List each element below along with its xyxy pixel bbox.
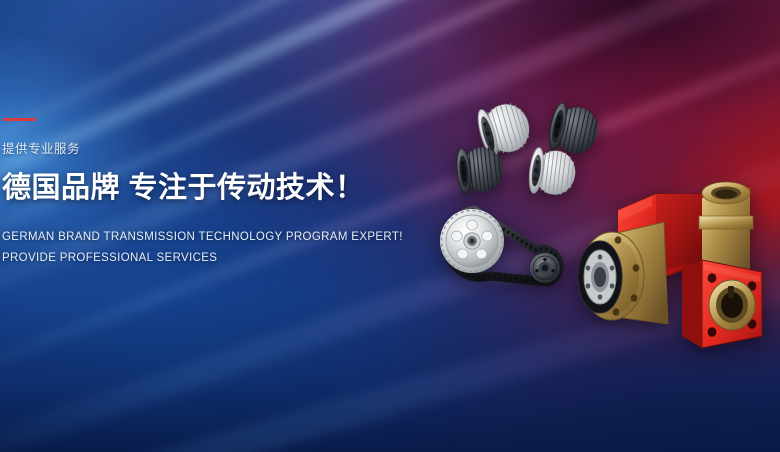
english-line-1: GERMAN BRAND TRANSMISSION TECHNOLOGY PRO…	[2, 227, 432, 248]
banner-copy: 提供专业服务 德国品牌 专注于传动技术！ GERMAN BRAND TRANSM…	[2, 112, 432, 269]
banner-subtitle: 提供专业服务	[2, 138, 432, 157]
gearbox-input-housing	[578, 222, 668, 324]
banner-english-copy: GERMAN BRAND TRANSMISSION TECHNOLOGY PRO…	[2, 227, 432, 269]
hero-banner: 提供专业服务 德国品牌 专注于传动技术！ GERMAN BRAND TRANSM…	[0, 0, 780, 452]
right-angle-gearbox	[556, 164, 780, 359]
timing-pulley-large	[440, 209, 504, 273]
banner-headline: 德国品牌 专注于传动技术！	[2, 171, 432, 205]
english-line-2: PROVIDE PROFESSIONAL SERVICES	[2, 248, 432, 269]
accent-rule	[3, 118, 36, 121]
